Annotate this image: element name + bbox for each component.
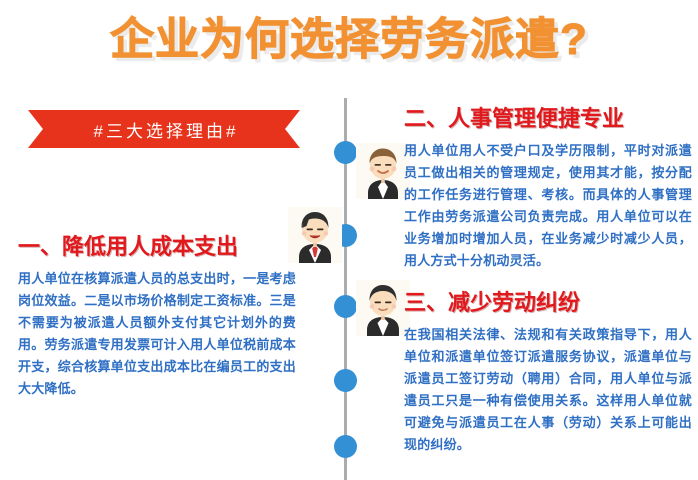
section-one: 一、降低用人成本支出 用人单位在核算派遣人员的总支出时，一是考虑岗位效益。二是以… [18, 232, 318, 400]
section-one-body: 用人单位在核算派遣人员的总支出时，一是考虑岗位效益。二是以市场价格制定工资标准。… [18, 268, 296, 400]
avatar-black-hair-icon [356, 280, 410, 336]
timeline-dot-3 [334, 295, 357, 318]
page-title: 企业为何选择劳务派遣? [110, 8, 588, 72]
section-three: 三、减少劳动纠纷 在我国相关法律、法规和有关政策指导下，用人单位和派遣单位签订派… [404, 288, 692, 456]
section-three-body: 在我国相关法律、法规和有关政策指导下，用人单位和派遣单位签订派遣服务协议，派遣单… [404, 324, 692, 456]
section-one-heading: 一、降低用人成本支出 [18, 232, 318, 262]
timeline-dot-4 [334, 369, 357, 392]
section-two-heading: 二、人事管理便捷专业 [404, 104, 692, 134]
section-three-heading: 三、减少劳动纠纷 [404, 288, 692, 318]
title-container: 企业为何选择劳务派遣? [0, 8, 698, 80]
section-two: 二、人事管理便捷专业 用人单位用人不受户口及学历限制，平时对派遣员工做出相关的管… [404, 104, 692, 272]
reasons-ribbon-banner: #三大选择理由# [28, 110, 300, 148]
infographic-page: 企业为何选择劳务派遣? #三大选择理由# [0, 0, 698, 480]
timeline-dot-1 [334, 141, 357, 164]
timeline-dot-5 [334, 435, 357, 458]
ribbon-label: #三大选择理由# [94, 117, 239, 142]
avatar-brown-hair-icon [356, 143, 410, 199]
section-two-body: 用人单位用人不受户口及学历限制，平时对派遣员工做出相关的管理规定，使用其才能，按… [404, 140, 692, 272]
